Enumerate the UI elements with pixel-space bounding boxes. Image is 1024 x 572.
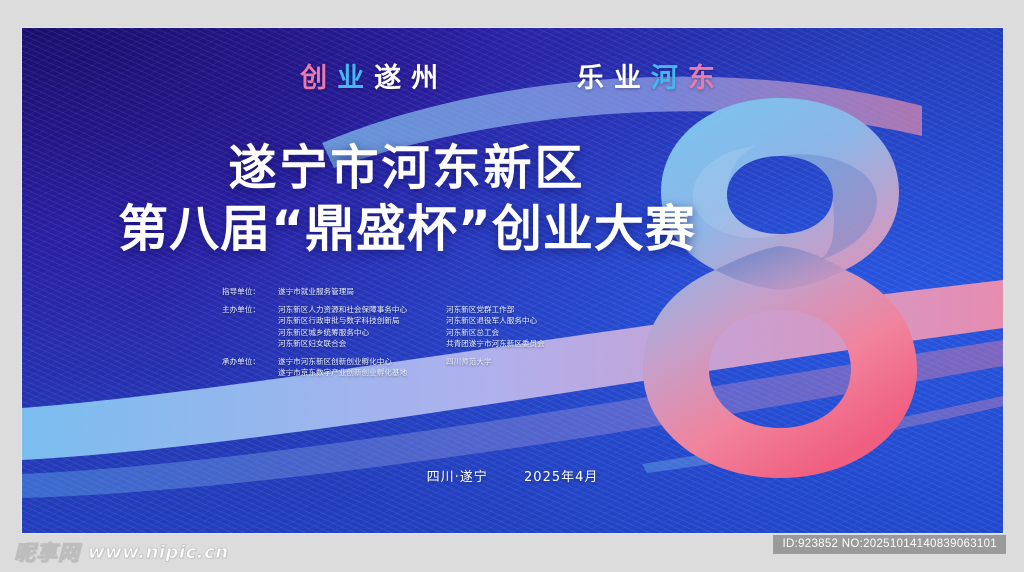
event-poster: 创业遂州 乐业河东 遂宁市河东新区 第八届“鼎盛杯”创业大赛 指导单位： 遂宁市… bbox=[22, 28, 1003, 533]
tagline-char: 乐 bbox=[577, 63, 614, 94]
guide-unit-row: 指导单位： 遂宁市就业服务管理局 bbox=[222, 286, 642, 297]
tagline-char: 业 bbox=[614, 63, 651, 94]
host-unit-item: 河东新区人力资源和社会保障事务中心 bbox=[278, 304, 446, 315]
host-unit-item: 河东新区城乡统筹服务中心 bbox=[278, 327, 446, 338]
host-unit-row: 主办单位： 河东新区人力资源和社会保障事务中心 河东新区行政审批与数字科技创新局… bbox=[222, 304, 642, 349]
tagline-char: 州 bbox=[411, 63, 448, 94]
host-unit-item: 河东新区妇女联合会 bbox=[278, 338, 446, 349]
tagline-right-group: 乐业河东 bbox=[577, 56, 725, 95]
coorganizer-unit-label: 承办单位： bbox=[222, 356, 278, 367]
tagline-char: 业 bbox=[337, 63, 374, 94]
screenshot-canvas: 创业遂州 乐业河东 遂宁市河东新区 第八届“鼎盛杯”创业大赛 指导单位： 遂宁市… bbox=[0, 0, 1024, 572]
host-unit-item: 河东新区退役军人服务中心 bbox=[446, 315, 642, 326]
site-watermark: 昵享网 www.nipic.cn bbox=[14, 537, 229, 567]
host-unit-item: 河东新区总工会 bbox=[446, 327, 642, 338]
host-unit-item: 共青团遂宁市河东新区委员会 bbox=[446, 338, 642, 349]
footer-date: 2025年4月 bbox=[524, 470, 598, 485]
host-unit-item: 河东新区党群工作部 bbox=[446, 304, 642, 315]
organizer-credits: 指导单位： 遂宁市就业服务管理局 主办单位： 河东新区人力资源和社会保障事务中心… bbox=[222, 286, 642, 385]
image-id-badge: ID:923852 NO:20251014140839063101 bbox=[773, 535, 1006, 554]
coorganizer-unit-row: 承办单位： 遂宁市河东新区创新创业孵化中心 遂宁市京东数字产业创新创业孵化基地 … bbox=[222, 356, 642, 378]
coorganizer-item: 四川师范大学 bbox=[446, 356, 642, 367]
host-unit-item: 河东新区行政审批与数字科技创新局 bbox=[278, 315, 446, 326]
host-unit-label: 主办单位： bbox=[222, 304, 278, 315]
poster-footer: 四川·遂宁 2025年4月 bbox=[22, 466, 1003, 485]
tagline-char: 创 bbox=[300, 63, 337, 94]
title-line-1: 遂宁市河东新区 bbox=[62, 140, 752, 197]
watermark-url: www.nipic.cn bbox=[88, 542, 229, 563]
coorganizer-item: 遂宁市河东新区创新创业孵化中心 bbox=[278, 356, 446, 367]
title-line-2: 第八届“鼎盛杯”创业大赛 bbox=[62, 199, 752, 259]
guide-unit-value: 遂宁市就业服务管理局 bbox=[278, 286, 446, 297]
guide-unit-label: 指导单位： bbox=[222, 286, 278, 297]
tagline-left-group: 创业遂州 bbox=[300, 56, 448, 95]
host-unit-column-left: 河东新区人力资源和社会保障事务中心 河东新区行政审批与数字科技创新局 河东新区城… bbox=[278, 304, 446, 349]
host-unit-column-right: 河东新区党群工作部 河东新区退役军人服务中心 河东新区总工会 共青团遂宁市河东新… bbox=[446, 304, 642, 349]
tagline-char: 河 bbox=[651, 63, 688, 94]
footer-place: 四川·遂宁 bbox=[427, 470, 488, 485]
tagline-char: 东 bbox=[688, 63, 725, 94]
coorganizer-item: 遂宁市京东数字产业创新创业孵化基地 bbox=[278, 367, 446, 378]
poster-title-block: 遂宁市河东新区 第八届“鼎盛杯”创业大赛 bbox=[62, 140, 752, 259]
coorganizer-column-left: 遂宁市河东新区创新创业孵化中心 遂宁市京东数字产业创新创业孵化基地 bbox=[278, 356, 446, 378]
coorganizer-column-right: 四川师范大学 bbox=[446, 356, 642, 378]
tagline-char: 遂 bbox=[374, 63, 411, 94]
watermark-logo-text: 昵享网 bbox=[14, 537, 80, 567]
poster-tagline: 创业遂州 乐业河东 bbox=[22, 56, 1003, 95]
